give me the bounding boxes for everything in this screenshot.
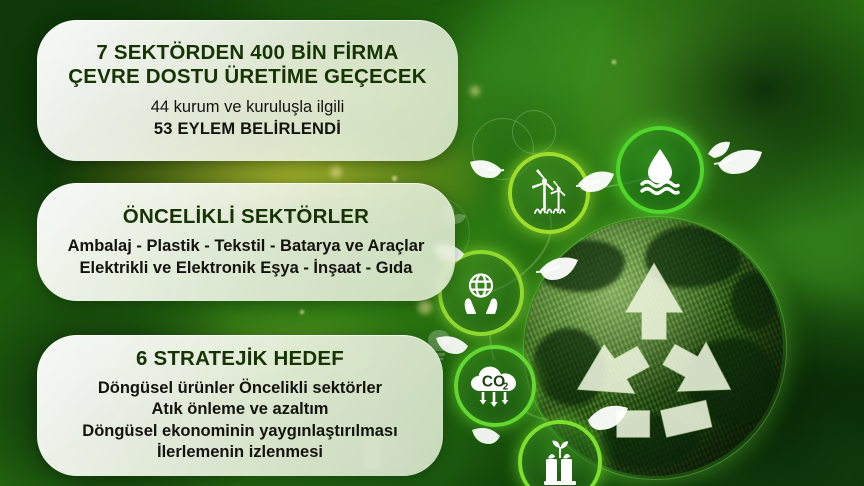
- strategic-goals-card: 6 STRATEJİK HEDEF Döngüsel ürünler Öncel…: [37, 335, 443, 476]
- priority-sectors-line-1: Ambalaj - Plastik - Tekstil - Batarya ve…: [68, 236, 425, 257]
- bokeh-sparkle: [330, 166, 342, 178]
- leaf-sprig-icon: [458, 140, 530, 200]
- headline-line-2: ÇEVRE DOSTU ÜRETİME GEÇECEK: [68, 65, 427, 89]
- headline-card-title: 7 SEKTÖRDEN 400 BİN FİRMA ÇEVRE DOSTU ÜR…: [68, 41, 427, 89]
- leaf-sprig-icon: [464, 410, 524, 460]
- bokeh-sparkle: [392, 176, 397, 181]
- co2-label: CO: [482, 374, 505, 391]
- infographic-canvas: CO 2: [0, 0, 864, 486]
- headline-card-subtitle: 44 kurum ve kuruluşla ilgili 53 EYLEM BE…: [151, 97, 345, 140]
- leaf-sprig-icon: [686, 130, 778, 192]
- co2-subscript: 2: [503, 382, 509, 393]
- priority-sectors-title: ÖNCELİKLİ SEKTÖRLER: [123, 205, 369, 229]
- eco-illustration: CO 2: [430, 0, 864, 486]
- priority-sectors-line-2: Elektrikli ve Elektronik Eşya - İnşaat -…: [68, 258, 425, 279]
- headline-card: 7 SEKTÖRDEN 400 BİN FİRMA ÇEVRE DOSTU ÜR…: [37, 20, 458, 161]
- bokeh-sparkle: [300, 310, 304, 314]
- strategic-goals-title: 6 STRATEJİK HEDEF: [136, 347, 344, 371]
- leaf-sprig-icon: [518, 238, 592, 294]
- headline-line-1: 7 SEKTÖRDEN 400 BİN FİRMA: [68, 41, 427, 65]
- strategic-goals-list: Döngüsel ürünler Öncelikli sektörler Atı…: [82, 378, 397, 464]
- strategic-goals-line-4: İlerlemenin izlenmesi: [82, 442, 397, 463]
- priority-sectors-list: Ambalaj - Plastik - Tekstil - Batarya ve…: [68, 236, 425, 279]
- strategic-goals-line-2: Atık önleme ve azaltım: [82, 399, 397, 420]
- headline-sub-line-2: 53 EYLEM BELİRLENDİ: [151, 119, 345, 140]
- strategic-goals-line-1: Döngüsel ürünler Öncelikli sektörler: [82, 378, 397, 399]
- strategic-goals-line-3: Döngüsel ekonominin yaygınlaştırılması: [82, 421, 397, 442]
- priority-sectors-card: ÖNCELİKLİ SEKTÖRLER Ambalaj - Plastik - …: [37, 183, 455, 301]
- headline-sub-line-1: 44 kurum ve kuruluşla ilgili: [151, 97, 345, 118]
